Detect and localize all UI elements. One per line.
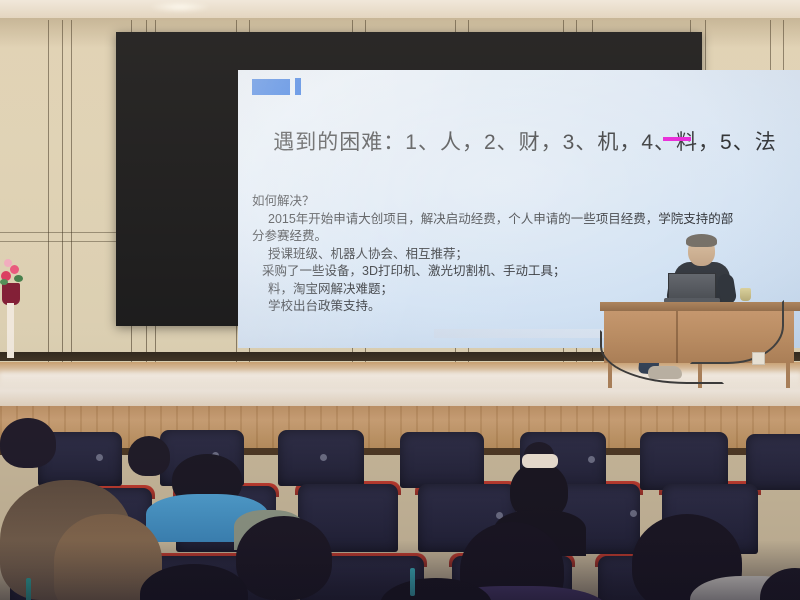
desk-leg (786, 363, 790, 388)
laptop-screen (668, 273, 716, 301)
slide-title-prefix: 遇到的困难：1、人，2、财，3、机，4、 (273, 131, 676, 154)
seat-rivet (588, 456, 595, 463)
slide-title: 遇到的困难：1、人，2、财，3、机，4、料，5、法 (238, 126, 800, 156)
audience-head (760, 568, 800, 600)
hair-tie (522, 454, 558, 468)
seat (746, 434, 800, 490)
slide-body-line: 如何解决？ (252, 193, 800, 211)
seat (400, 432, 484, 488)
slide-logo (252, 78, 301, 95)
wall-groove (62, 20, 63, 366)
flower-leaf (14, 275, 23, 282)
slide-title-highlighted: 料 (676, 131, 698, 154)
audience-head (128, 436, 170, 476)
logo-block-icon (252, 79, 290, 95)
lecture-hall-photo: 遇到的困难：1、人，2、财，3、机，4、料，5、法 如何解决？ 2015年开始申… (0, 0, 800, 600)
flower-petal (4, 259, 12, 267)
seat-rivet (96, 454, 103, 461)
slide-title-suffix: ，5、法 (698, 131, 777, 154)
audience-area (0, 418, 800, 600)
seat-rivet (320, 454, 327, 461)
seat (640, 432, 728, 490)
ceiling-light (150, 2, 210, 12)
stand-pole (7, 303, 14, 358)
logo-bar-icon (295, 78, 301, 95)
flower-arrangement (0, 255, 26, 350)
desk-leg (608, 363, 612, 388)
flower-petal (10, 265, 19, 274)
projection-screen-frame: 遇到的困难：1、人，2、财，3、机，4、料，5、法 如何解决？ 2015年开始申… (116, 32, 702, 326)
wall-groove (71, 20, 72, 366)
slide-title-highlight-wrap: 料 (676, 131, 698, 154)
magenta-highlight-bar (663, 137, 691, 141)
pen (410, 568, 415, 596)
wall-outlet (752, 352, 765, 365)
wall-groove (48, 20, 49, 366)
flower-leaf (0, 279, 8, 285)
presenter-hair (686, 234, 717, 247)
audience-head (236, 516, 332, 600)
audience-head (0, 418, 56, 468)
slide-body-line: 2015年开始申请大创项目，解决启动经费，个人申请的一些项目经费，学院支持的部 (252, 211, 800, 229)
seat-rivet (630, 510, 637, 517)
pen (26, 578, 31, 600)
vase (2, 283, 20, 305)
